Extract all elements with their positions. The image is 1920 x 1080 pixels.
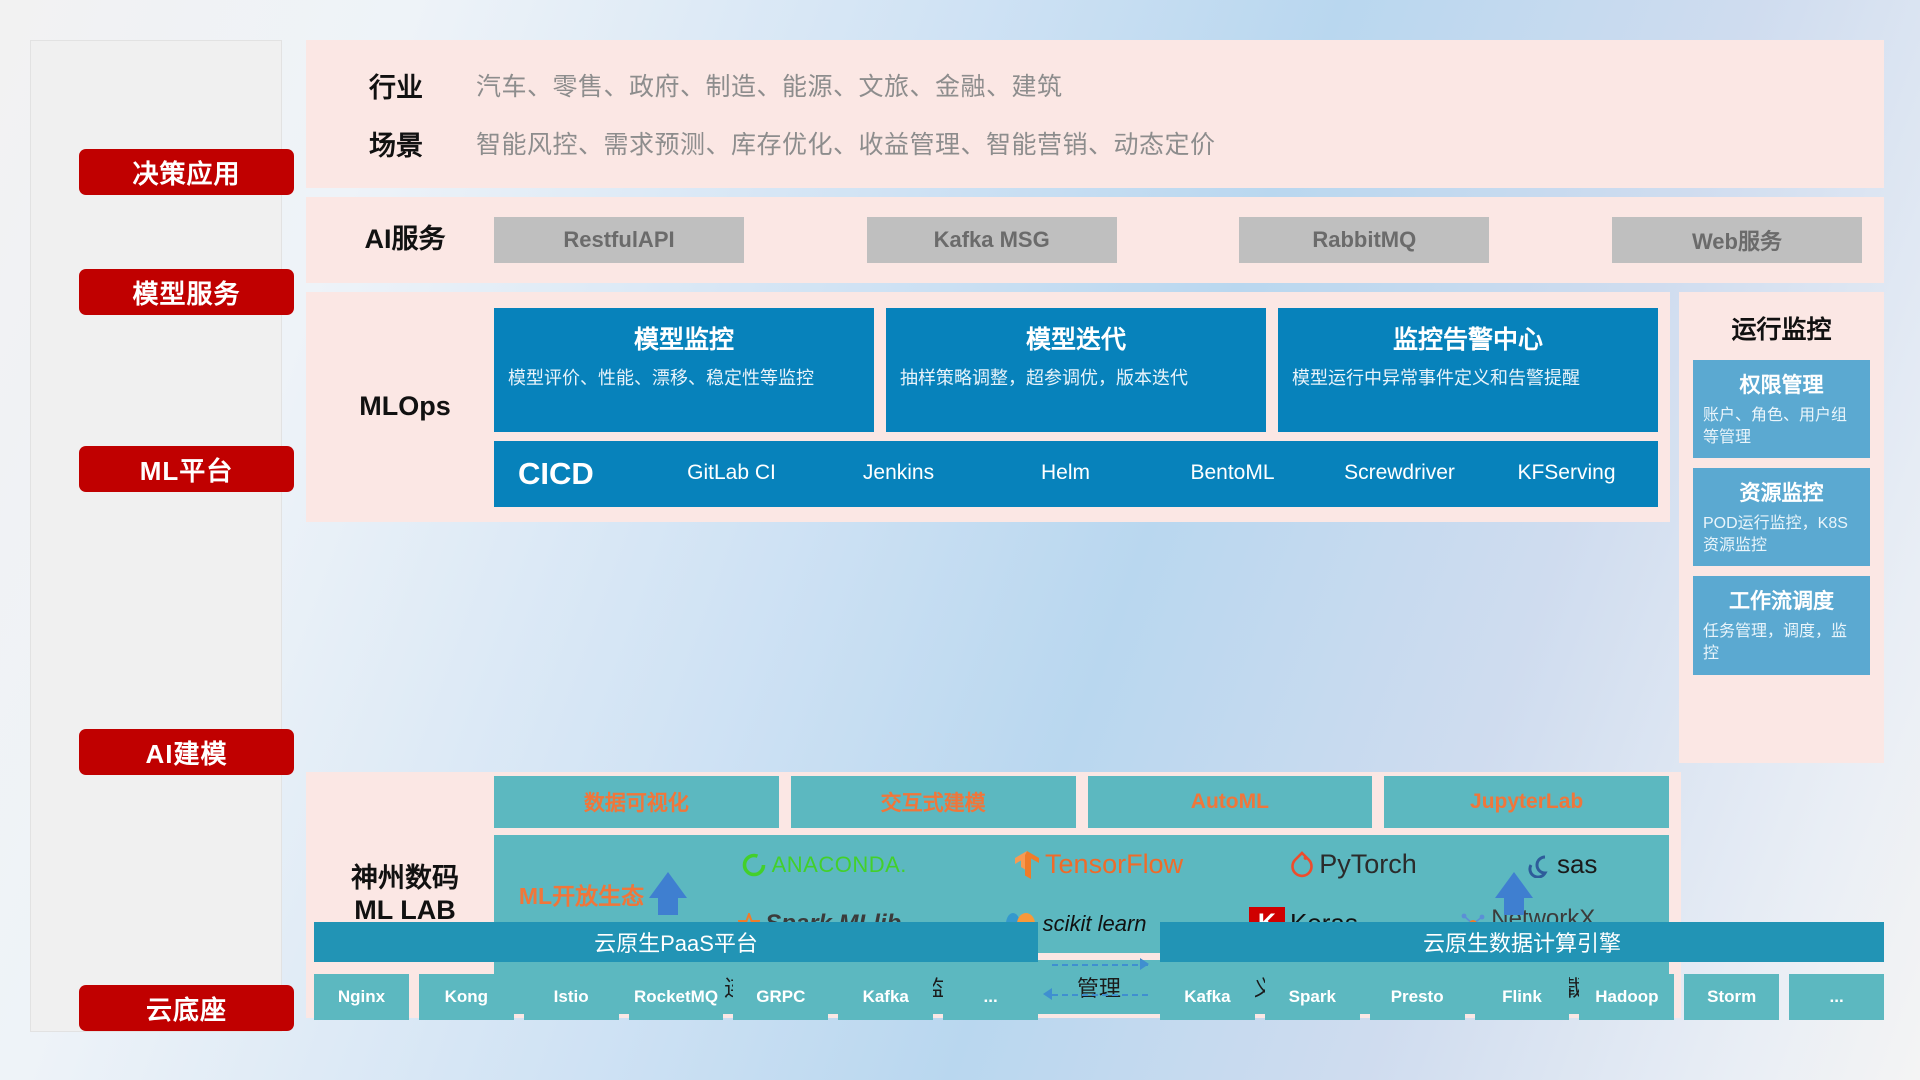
cicd-item-helm[interactable]: Helm [982, 462, 1149, 484]
tool-tab-automl[interactable]: AutoML [1088, 776, 1373, 828]
tool-tab-jupyterlab[interactable]: JupyterLab [1384, 776, 1669, 828]
card-title: 资源监控 [1703, 477, 1860, 507]
dashed-connector-bottom [1052, 994, 1148, 996]
paas-chip-nginx[interactable]: Nginx [314, 974, 409, 1020]
cicd-item-screwdriver[interactable]: Screwdriver [1316, 462, 1483, 484]
monitor-panel-title: 运行监控 [1693, 310, 1870, 346]
rail-tag-model-service[interactable]: 模型服务 [79, 269, 294, 315]
tool-tab-interactive-modeling[interactable]: 交互式建模 [791, 776, 1076, 828]
cicd-bar: CICD GitLab CI Jenkins Helm BentoML Scre… [494, 441, 1658, 507]
dashed-connector-top [1052, 964, 1148, 966]
arrow-up-paas-icon [649, 872, 687, 898]
card-desc: 账户、角色、用户组等管理 [1703, 405, 1860, 448]
service-chip-rabbitmq[interactable]: RabbitMQ [1239, 217, 1489, 263]
scenario-label: 场景 [316, 124, 476, 163]
paas-chips: Nginx Kong Istio RocketMQ GRPC Kafka ... [314, 974, 1038, 1020]
mlops-band: MLOps 模型监控 模型评价、性能、漂移、稳定性等监控 模型迭代 抽样策略调整… [306, 292, 1670, 522]
arrow-up-compute-icon [1495, 872, 1533, 898]
card-title: 监控告警中心 [1292, 320, 1644, 356]
rail-tag-cloud-base[interactable]: 云底座 [79, 985, 294, 1031]
mlops-card-model-monitoring[interactable]: 模型监控 模型评价、性能、漂移、稳定性等监控 [494, 308, 874, 432]
rail-tag-label: 模型服务 [132, 274, 240, 311]
ai-services-chips: RestfulAPI Kafka MSG RabbitMQ Web服务 [494, 217, 1884, 263]
card-desc: POD运行监控，K8S资源监控 [1703, 513, 1860, 556]
cicd-item-bentoml[interactable]: BentoML [1149, 462, 1316, 484]
cicd-title: CICD [518, 456, 648, 492]
rail-tag-ai-modeling[interactable]: AI建模 [79, 729, 294, 775]
card-desc: 抽样策略调整，超参调优，版本迭代 [900, 366, 1252, 392]
monitor-card-permission[interactable]: 权限管理 账户、角色、用户组等管理 [1693, 360, 1870, 458]
rail-tag-label: 决策应用 [132, 154, 240, 191]
applications-band: 行业 汽车、零售、政府、制造、能源、文旅、金融、建筑 场景 智能风控、需求预测、… [306, 40, 1884, 188]
mlops-and-monitor-row: MLOps 模型监控 模型评价、性能、漂移、稳定性等监控 模型迭代 抽样策略调整… [306, 292, 1884, 763]
tool-tab-data-visualization[interactable]: 数据可视化 [494, 776, 779, 828]
cloud-base-section: 云原生PaaS平台 Nginx Kong Istio RocketMQ GRPC… [306, 872, 1884, 1030]
cicd-item-gitlab-ci[interactable]: GitLab CI [648, 462, 815, 484]
compute-title: 云原生数据计算引擎 [1160, 922, 1884, 962]
paas-chip-istio[interactable]: Istio [524, 974, 619, 1020]
rail-tag-label: 云底座 [146, 990, 227, 1027]
cicd-item-jenkins[interactable]: Jenkins [815, 462, 982, 484]
compute-chip-kafka[interactable]: Kafka [1160, 974, 1255, 1020]
paas-chip-kong[interactable]: Kong [419, 974, 514, 1020]
ml-lab-tool-tabs: 数据可视化 交互式建模 AutoML JupyterLab [494, 776, 1669, 828]
applications-rows: 行业 汽车、零售、政府、制造、能源、文旅、金融、建筑 场景 智能风控、需求预测、… [316, 56, 1884, 172]
cicd-item-kfserving[interactable]: KFServing [1483, 462, 1650, 484]
paas-chip-grpc[interactable]: GRPC [733, 974, 828, 1020]
service-chip-restfulapi[interactable]: RestfulAPI [494, 217, 744, 263]
architecture-diagram: 决策应用 模型服务 ML平台 AI建模 云底座 行业 汽车、零售、政府、制造、能… [0, 0, 1920, 1080]
compute-chips: Kafka Spark Presto Flink Hadoop Storm ..… [1160, 974, 1884, 1020]
industry-values: 汽车、零售、政府、制造、能源、文旅、金融、建筑 [476, 67, 1063, 103]
dashed-arrow-left-icon [1043, 988, 1052, 1000]
rail-tag-label: AI建模 [145, 734, 227, 771]
monitor-card-workflow[interactable]: 工作流调度 任务管理，调度，监控 [1693, 576, 1870, 674]
rail-tag-label: ML平台 [140, 451, 234, 488]
ai-services-band: AI服务 RestfulAPI Kafka MSG RabbitMQ Web服务 [306, 197, 1884, 283]
mlops-card-model-iteration[interactable]: 模型迭代 抽样策略调整，超参调优，版本迭代 [886, 308, 1266, 432]
compute-chip-more[interactable]: ... [1789, 974, 1884, 1020]
compute-chip-flink[interactable]: Flink [1475, 974, 1570, 1020]
industry-label: 行业 [316, 66, 476, 105]
dashed-arrow-right-icon [1140, 958, 1149, 970]
compute-chip-presto[interactable]: Presto [1370, 974, 1465, 1020]
arrow-up-compute-stem [1504, 897, 1524, 915]
monitor-card-resource[interactable]: 资源监控 POD运行监控，K8S资源监控 [1693, 468, 1870, 566]
paas-chip-more[interactable]: ... [943, 974, 1038, 1020]
paas-chip-rocketmq[interactable]: RocketMQ [629, 974, 724, 1020]
paas-chip-kafka[interactable]: Kafka [838, 974, 933, 1020]
mlops-card-alert-center[interactable]: 监控告警中心 模型运行中异常事件定义和告警提醒 [1278, 308, 1658, 432]
service-chip-web[interactable]: Web服务 [1612, 217, 1862, 263]
paas-title: 云原生PaaS平台 [314, 922, 1038, 962]
compute-chip-storm[interactable]: Storm [1684, 974, 1779, 1020]
mlops-cards: 模型监控 模型评价、性能、漂移、稳定性等监控 模型迭代 抽样策略调整，超参调优，… [494, 308, 1658, 432]
rail-tag-decision-apps[interactable]: 决策应用 [79, 149, 294, 195]
ai-services-label: AI服务 [316, 224, 494, 256]
scenario-values: 智能风控、需求预测、库存优化、收益管理、智能营销、动态定价 [476, 125, 1216, 161]
card-desc: 任务管理，调度，监控 [1703, 621, 1860, 664]
compute-chip-hadoop[interactable]: Hadoop [1579, 974, 1674, 1020]
card-desc: 模型运行中异常事件定义和告警提醒 [1292, 366, 1644, 392]
scenario-row: 场景 智能风控、需求预测、库存优化、收益管理、智能营销、动态定价 [316, 114, 1864, 172]
rail-tag-ml-platform[interactable]: ML平台 [79, 446, 294, 492]
compute-chip-spark[interactable]: Spark [1265, 974, 1360, 1020]
card-desc: 模型评价、性能、漂移、稳定性等监控 [508, 366, 860, 392]
industry-row: 行业 汽车、零售、政府、制造、能源、文旅、金融、建筑 [316, 56, 1864, 114]
paas-column: 云原生PaaS平台 Nginx Kong Istio RocketMQ GRPC… [314, 922, 1038, 1020]
compute-column: 云原生数据计算引擎 Kafka Spark Presto Flink Hadoo… [1160, 922, 1884, 1020]
service-chip-kafka-msg[interactable]: Kafka MSG [867, 217, 1117, 263]
arrow-up-paas-stem [658, 897, 678, 915]
layer-rail: 决策应用 模型服务 ML平台 AI建模 云底座 [30, 40, 282, 1032]
card-title: 模型监控 [508, 320, 860, 356]
card-title: 模型迭代 [900, 320, 1252, 356]
card-title: 权限管理 [1703, 369, 1860, 399]
card-title: 工作流调度 [1703, 585, 1860, 615]
runtime-monitor-panel: 运行监控 权限管理 账户、角色、用户组等管理 资源监控 POD运行监控，K8S资… [1679, 292, 1884, 763]
mlops-label: MLOps [316, 391, 494, 423]
